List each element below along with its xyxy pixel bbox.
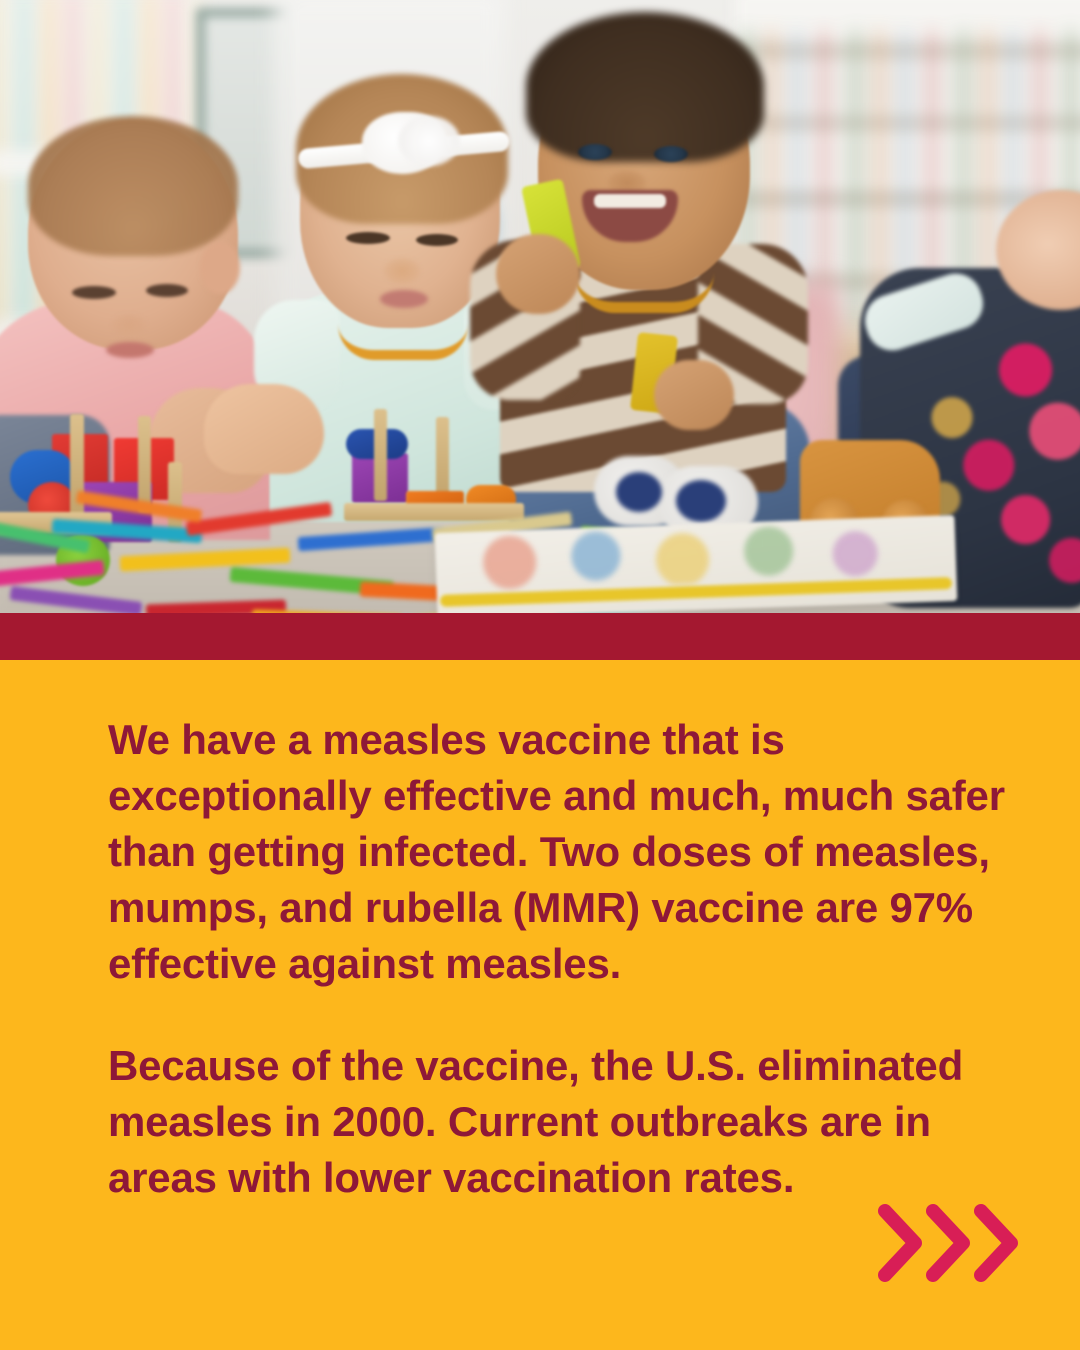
- baby-left-mouth: [106, 342, 154, 358]
- stick: [0, 560, 104, 587]
- baby-left-eye: [146, 284, 188, 297]
- stick: [10, 586, 143, 613]
- baby-striped-hand: [654, 360, 734, 430]
- maroon-divider-bar: [0, 613, 1080, 660]
- chevron-1-icon: [885, 1211, 915, 1275]
- hero-photo: [0, 0, 1080, 613]
- wooden-peg: [374, 409, 387, 501]
- baby-headband-mouth: [380, 290, 428, 308]
- baby-striped-hand: [496, 234, 580, 314]
- paragraph-vaccine-effectiveness: We have a measles vaccine that is except…: [108, 712, 1008, 992]
- triple-chevron-right-icon[interactable]: [876, 1202, 1022, 1284]
- baby-striped-eye: [654, 146, 688, 162]
- flower-bow-icon: [398, 116, 460, 166]
- baby-headband-eye: [346, 232, 390, 244]
- baby-headband-eye: [416, 234, 458, 246]
- baby-striped-teeth: [594, 194, 666, 208]
- stick: [120, 548, 291, 572]
- wooden-peg: [138, 416, 151, 512]
- baby-headband-nose: [384, 258, 420, 284]
- baby-striped-hair: [526, 12, 764, 162]
- chevron-2-icon: [933, 1211, 963, 1275]
- baby-left-nose: [112, 314, 146, 336]
- baby-striped-eye: [578, 144, 612, 160]
- copy-block: We have a measles vaccine that is except…: [108, 712, 1008, 1206]
- stick: [186, 502, 333, 536]
- chevron-3-icon: [981, 1211, 1011, 1275]
- amber-necklace: [338, 324, 468, 360]
- baby-left-hair: [28, 116, 238, 256]
- baby-left-ear: [200, 242, 240, 294]
- baby-left-eye: [72, 286, 116, 299]
- social-post-card: We have a measles vaccine that is except…: [0, 0, 1080, 1350]
- stick: [298, 527, 449, 551]
- paragraph-elimination-history: Because of the vaccine, the U.S. elimina…: [108, 1038, 1008, 1206]
- amber-necklace: [574, 272, 714, 313]
